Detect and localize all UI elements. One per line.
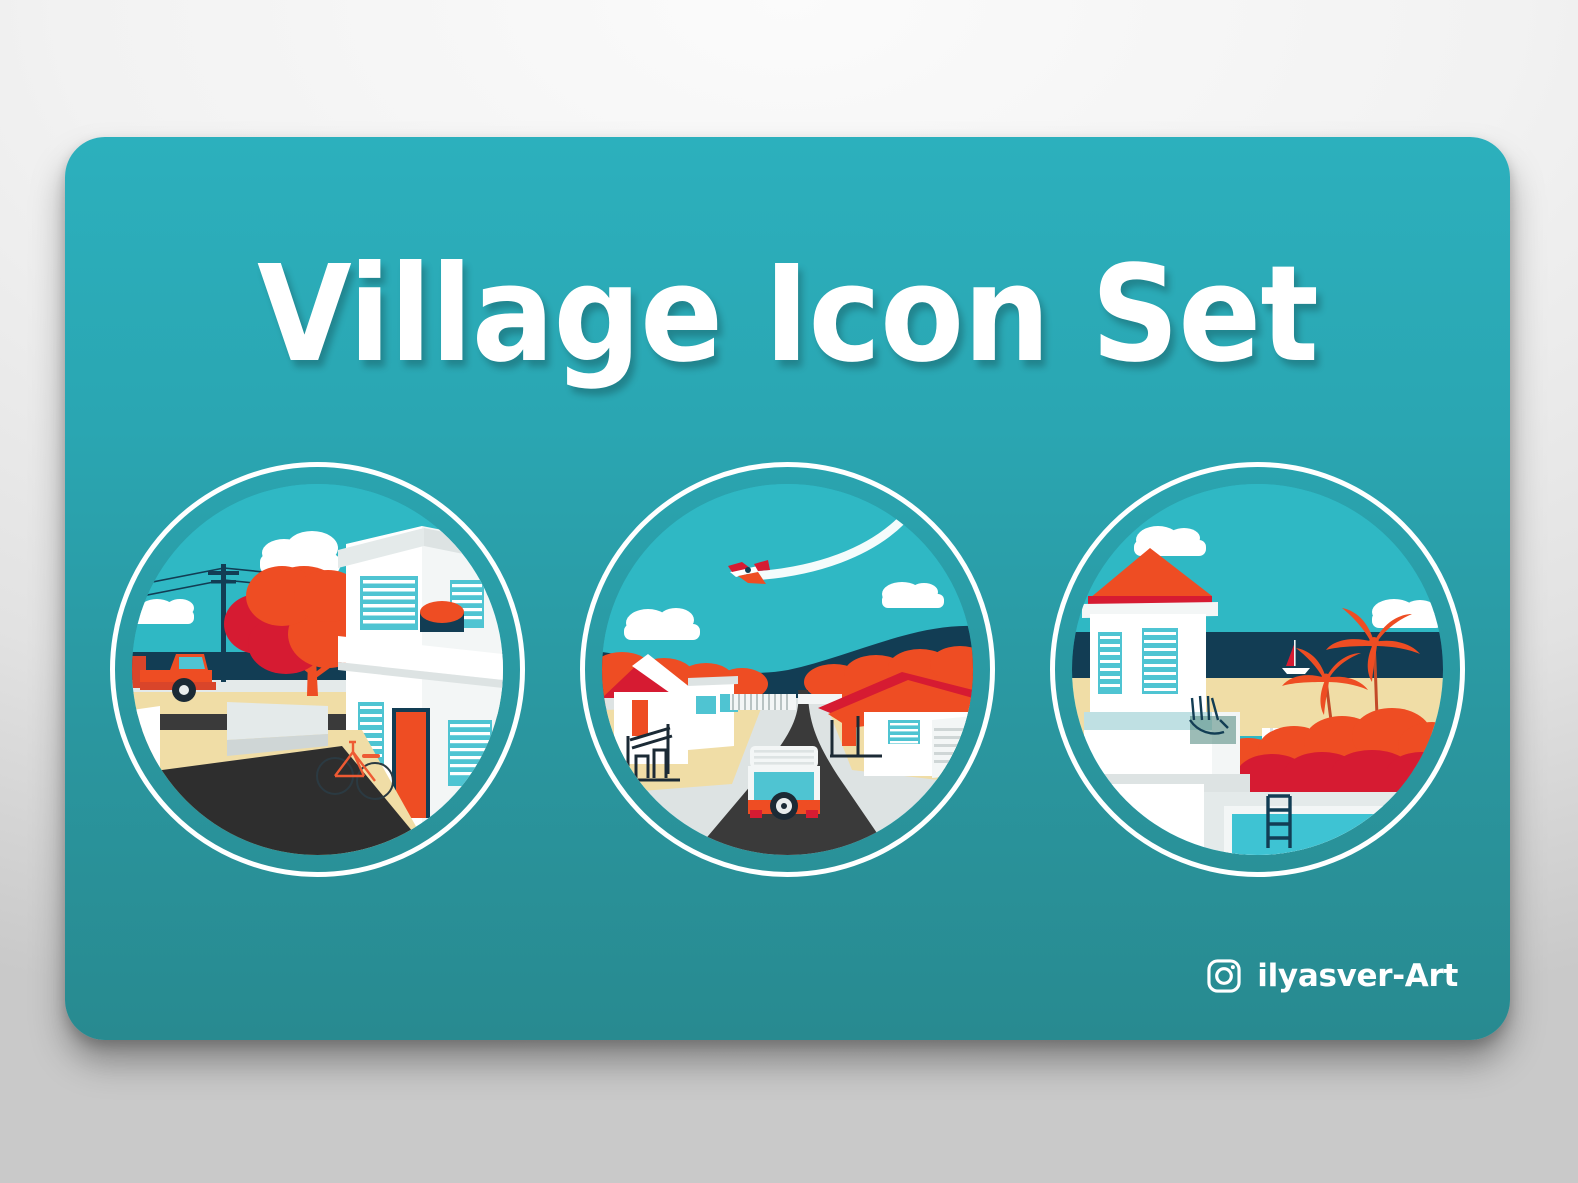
poster-card: Village Icon Set	[65, 137, 1510, 1040]
icon-badge-beach-villa-pool[interactable]	[1050, 462, 1465, 877]
icon-badge-village-street-house[interactable]	[110, 462, 525, 877]
watermark[interactable]: ilyasver-Art	[1205, 957, 1458, 995]
icon-artwork-beach-villa-pool	[1072, 484, 1443, 855]
watermark-handle: ilyasver-Art	[1257, 958, 1458, 994]
van	[748, 746, 820, 820]
icon-badge-village-road-valley[interactable]	[580, 462, 995, 877]
icon-artwork-village-road-valley	[602, 484, 973, 855]
instagram-icon	[1205, 957, 1243, 995]
page-title: Village Icon Set	[123, 249, 1452, 382]
icon-row	[65, 462, 1510, 877]
icon-artwork-village-street-house	[132, 484, 503, 855]
